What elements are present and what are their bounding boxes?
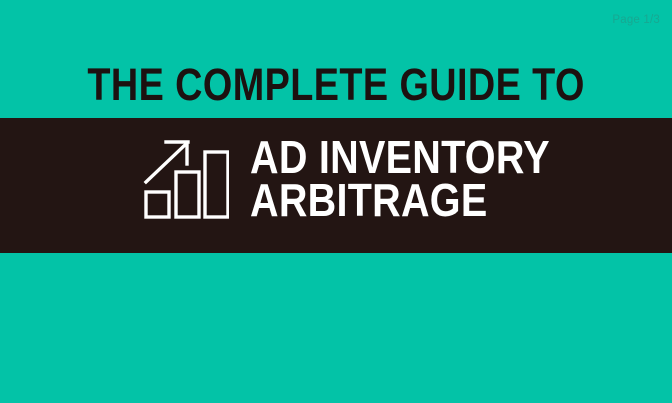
title-band-content: AD INVENTORY ARBITRAGE: [0, 118, 672, 253]
page-title: THE COMPLETE GUIDE TO: [0, 62, 672, 108]
main-title-line-2: ARBITRAGE: [250, 179, 599, 222]
title-band: AD INVENTORY ARBITRAGE: [0, 118, 672, 253]
main-title: AD INVENTORY ARBITRAGE: [250, 136, 599, 222]
bar-chart-growth-icon: [143, 135, 229, 223]
main-title-line-1: AD INVENTORY: [250, 136, 599, 179]
main-title-line-2-text: ARBITRAGE: [250, 179, 487, 222]
main-title-line-1-text: AD INVENTORY: [250, 136, 550, 179]
kicker-text: THE COMPLETE GUIDE TO: [87, 62, 584, 108]
page-indicator: Page 1/3: [612, 13, 660, 27]
title-slide: Page 1/3 THE COMPLETE GUIDE TO: [0, 0, 672, 403]
